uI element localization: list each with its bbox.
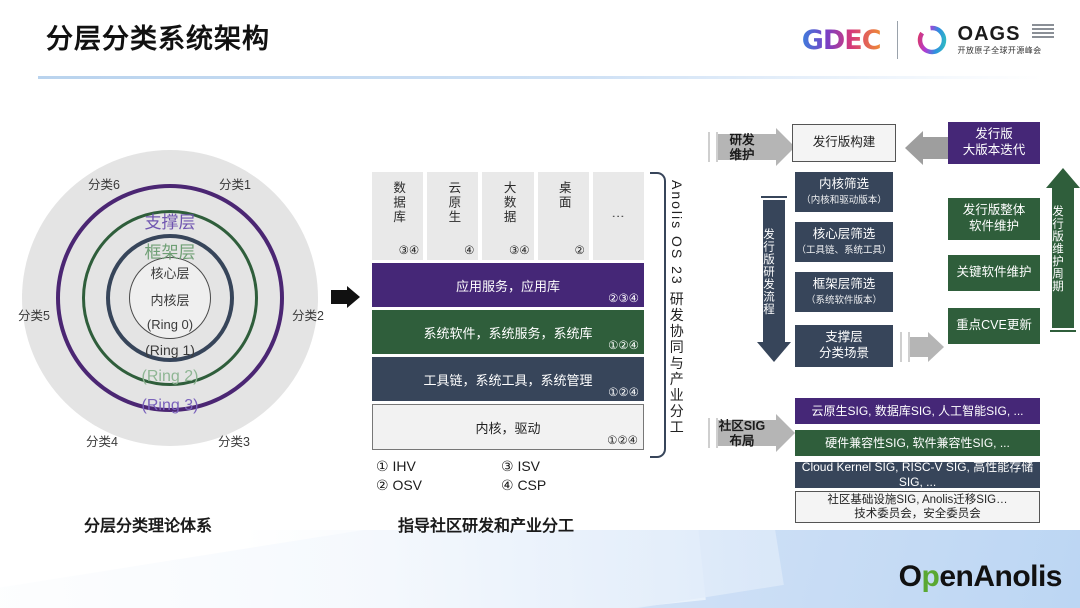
legend-item: ② OSV [376, 477, 501, 494]
box-core-filter-sub: （工具链、系统工具） [796, 245, 891, 257]
flow-arrow-icon [331, 286, 361, 316]
box-cve-update-label: 重点CVE更新 [956, 318, 1032, 334]
box-kernel-filter-title: 内核筛选 [819, 177, 869, 193]
box-core-filter-title: 核心层筛选 [813, 227, 876, 243]
box-kernel-filter[interactable]: 内核筛选 （内核和驱动版本） [795, 172, 893, 212]
arrow-dev-maintain-label: 研发 维护 [714, 133, 770, 163]
box-support-scenario[interactable]: 支撑层 分类场景 [795, 325, 893, 367]
category-label-1: 分类1 [219, 174, 251, 193]
openanolis-logo: OpenAnolis [899, 560, 1062, 594]
oags-title: OAGS [958, 24, 1054, 45]
layer-bar-system-software[interactable]: 系统软件，系统服务，系统库 ①②④ [372, 310, 644, 354]
domain-columns: 数据库 ③④ 云原生 ④ 大数据 ③④ 桌面 ② ⋮ [372, 172, 644, 260]
page-title: 分层分类系统架构 [46, 17, 270, 56]
box-sig-kernel-label: Cloud Kernel SIG, RISC-V SIG, 高性能存储SIG, … [795, 460, 1040, 490]
layered-rings-diagram: 支撑层 框架层 核心层 内核层 (Ring 0) (Ring 1) (Ring … [22, 150, 318, 446]
ring-label-kernel: 内核层 [22, 290, 318, 309]
box-sig-infrastructure-label: 社区基础设施SIG, Anolis迁移SIG… [827, 493, 1007, 507]
oags-bars-icon [1032, 24, 1054, 38]
box-key-software-maintenance[interactable]: 关键软件维护 [948, 255, 1040, 291]
layer-bar-label: 应用服务，应用库 [456, 276, 560, 295]
box-sig-compatibility[interactable]: 硬件兼容性SIG, 软件兼容性SIG, ... [795, 430, 1040, 456]
gdec-logo: GDEC [802, 25, 881, 56]
ellipsis-icon: ⋮ [612, 210, 626, 223]
domain-column-more[interactable]: ⋮ [593, 172, 644, 260]
arrow-support-to-cve [900, 332, 944, 362]
box-sig-infrastructure[interactable]: 社区基础设施SIG, Anolis迁移SIG… 技术委员会，安全委员会 [795, 491, 1040, 523]
ring-label-core: 核心层 [22, 263, 318, 282]
box-sig-cloudnative[interactable]: 云原生SIG, 数据库SIG, 人工智能SIG, ... [795, 398, 1040, 424]
legend-item: ① IHV [376, 458, 501, 475]
box-framework-filter-sub: （系统软件版本） [806, 295, 882, 307]
domain-column[interactable]: 桌面 ② [538, 172, 589, 260]
ring-label-framework: 框架层 [22, 238, 318, 263]
oags-title-text: OAGS [958, 23, 1021, 45]
box-key-software-maintenance-label: 关键软件维护 [956, 265, 1031, 281]
legend: ① IHV ③ ISV ② OSV ④ CSP [376, 458, 626, 494]
title-divider [38, 76, 1042, 79]
domain-column[interactable]: 云原生 ④ [427, 172, 478, 260]
oags-logo: OAGS 开放原子全球开源峰会 [914, 22, 1054, 58]
ring-label-ring0: (Ring 0) [22, 317, 318, 332]
box-sig-infrastructure-label2: 技术委员会，安全委员会 [854, 507, 981, 521]
middle-panel-caption: 指导社区研发和产业分工 [398, 512, 574, 536]
ring-label-ring3: (Ring 3) [22, 397, 318, 415]
box-sig-compatibility-label: 硬件兼容性SIG, 软件兼容性SIG, ... [825, 436, 1010, 451]
box-release-iteration[interactable]: 发行版 大版本迭代 [948, 122, 1040, 164]
box-framework-filter[interactable]: 框架层筛选 （系统软件版本） [795, 272, 893, 312]
middle-vertical-label: Anolis OS 23 研发协同与产业分工 [668, 180, 685, 448]
oags-ring-icon [914, 22, 950, 58]
layer-bar-label: 内核，驱动 [475, 418, 540, 437]
domain-column-marks: ③④ [399, 243, 420, 257]
left-panel-caption: 分层分类理论体系 [84, 512, 212, 536]
box-release-build-label: 发行版构建 [813, 135, 876, 151]
category-label-6: 分类6 [88, 174, 120, 193]
layer-bar-kernel[interactable]: 内核，驱动 ①②④ [372, 404, 644, 450]
layer-bar-marks: ②③④ [608, 291, 639, 305]
layer-bar-marks: ①②④ [608, 385, 639, 399]
box-sig-cloudnative-label: 云原生SIG, 数据库SIG, 人工智能SIG, ... [811, 404, 1023, 419]
box-sig-kernel[interactable]: Cloud Kernel SIG, RISC-V SIG, 高性能存储SIG, … [795, 462, 1040, 488]
openanolis-leaf-icon: p [921, 560, 939, 593]
layer-bar-marks: ①②④ [607, 433, 638, 447]
logo-separator [897, 21, 898, 59]
layer-bar-label: 系统软件，系统服务，系统库 [423, 323, 592, 342]
arrow-release-process-label: 发行版研发流程 [760, 228, 776, 340]
openanolis-logo-part2: enAnolis [939, 560, 1062, 593]
middle-brace [650, 172, 666, 458]
openanolis-logo-part1: O [899, 560, 922, 593]
arrow-maintenance-cycle-label: 发行版维护周期 [1049, 205, 1065, 317]
box-overall-maintenance[interactable]: 发行版整体 软件维护 [948, 198, 1040, 240]
arrow-community-sig-label: 社区SIG 布局 [714, 419, 770, 449]
domain-column[interactable]: 数据库 ③④ [372, 172, 423, 260]
legend-item: ③ ISV [501, 458, 626, 475]
domain-column-label: 云原生 [446, 181, 459, 225]
category-label-4: 分类4 [86, 431, 118, 450]
box-cve-update[interactable]: 重点CVE更新 [948, 308, 1040, 344]
domain-column-marks: ④ [464, 243, 474, 257]
box-core-filter[interactable]: 核心层筛选 （工具链、系统工具） [795, 222, 893, 262]
box-release-iteration-label: 发行版 大版本迭代 [963, 127, 1026, 158]
oags-subtitle: 开放原子全球开源峰会 [958, 47, 1054, 55]
layer-bar-application[interactable]: 应用服务，应用库 ②③④ [372, 263, 644, 307]
category-label-2: 分类2 [292, 305, 324, 324]
box-overall-maintenance-label: 发行版整体 软件维护 [963, 203, 1026, 234]
layer-bar-marks: ①②④ [608, 338, 639, 352]
category-label-3: 分类3 [218, 431, 250, 450]
oags-text: OAGS 开放原子全球开源峰会 [958, 24, 1054, 55]
domain-column-marks: ② [575, 243, 585, 257]
domain-column-label: 桌面 [557, 181, 570, 210]
box-kernel-filter-sub: （内核和驱动版本） [801, 195, 887, 207]
legend-item: ④ CSP [501, 477, 626, 494]
layer-bar-toolchain[interactable]: 工具链，系统工具，系统管理 ①②④ [372, 357, 644, 401]
ring-label-support: 支撑层 [22, 208, 318, 233]
domain-column-marks: ③④ [509, 243, 530, 257]
category-label-5: 分类5 [18, 305, 50, 324]
logo-group: GDEC OAGS 开放 [802, 14, 1054, 66]
domain-column[interactable]: 大数据 ③④ [482, 172, 533, 260]
box-release-build[interactable]: 发行版构建 [792, 124, 896, 162]
box-support-scenario-title: 支撑层 分类场景 [819, 330, 869, 361]
box-framework-filter-title: 框架层筛选 [813, 277, 876, 293]
domain-column-label: 数据库 [391, 181, 404, 225]
slide-root: 分层分类系统架构 GDEC OAGS [0, 0, 1080, 608]
ring-label-ring2: (Ring 2) [22, 368, 318, 386]
layer-bar-label: 工具链，系统工具，系统管理 [423, 370, 592, 389]
domain-column-label: 大数据 [501, 181, 514, 225]
middle-stack: 数据库 ③④ 云原生 ④ 大数据 ③④ 桌面 ② ⋮ 应用服务，应用库 ②③④ [372, 172, 644, 450]
ring-label-ring1: (Ring 1) [22, 342, 318, 358]
